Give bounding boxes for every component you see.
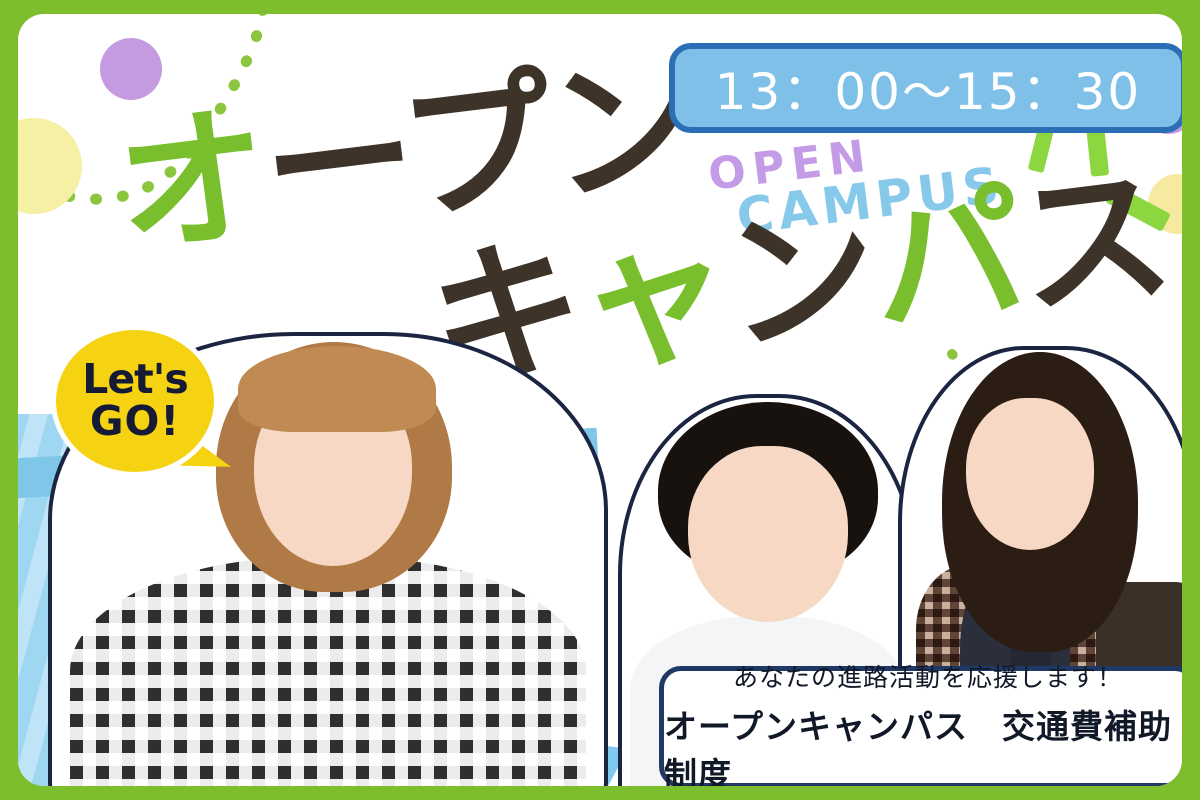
subsidy-info-box: あなたの進路活動を応援します！ オープンキャンパス 交通費補助制度	[659, 666, 1182, 786]
lets-go-speech-bubble: Let's GO!	[51, 325, 219, 477]
event-time-badge: 13：00〜15：30	[669, 43, 1182, 133]
dotted-arc-topleft	[18, 14, 328, 238]
face	[688, 446, 848, 622]
open-campus-poster: OPEN CAMPUS オープン キャンパス	[0, 0, 1200, 800]
poster-stage: OPEN CAMPUS オープン キャンパス	[18, 14, 1182, 786]
event-time-text: 13：00〜15：30	[715, 52, 1142, 124]
speech-bubble-text: Let's GO!	[51, 325, 219, 477]
face	[966, 398, 1094, 550]
info-box-line-1: あなたの進路活動を応援します！	[733, 658, 1123, 694]
speech-bubble-line-2: GO!	[90, 401, 180, 443]
info-box-line-2: オープンキャンパス 交通費補助制度	[664, 700, 1182, 786]
hair-bangs	[238, 346, 436, 432]
speech-bubble-line-1: Let's	[82, 359, 188, 401]
decor-circle-purple	[100, 38, 162, 100]
title-char: プ	[392, 51, 560, 245]
